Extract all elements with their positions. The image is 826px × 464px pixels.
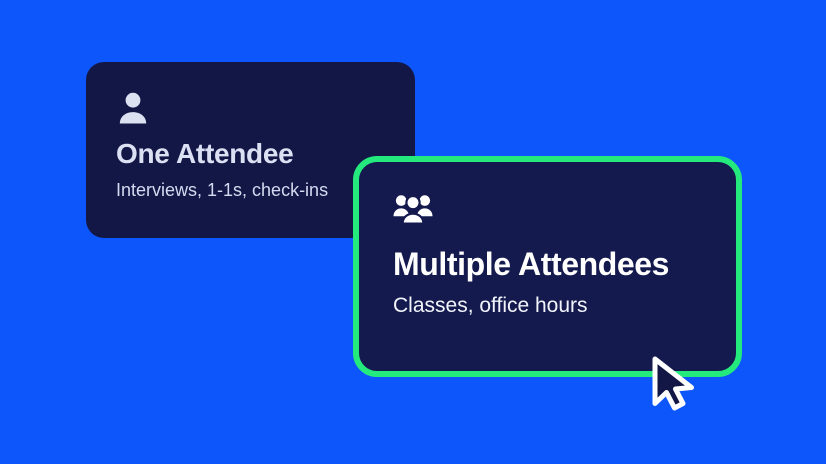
- option-card-multiple-attendees[interactable]: Multiple Attendees Classes, office hours: [353, 156, 742, 377]
- card-title: Multiple Attendees: [393, 246, 702, 283]
- card-title: One Attendee: [116, 138, 385, 170]
- attendee-type-selector: One Attendee Interviews, 1-1s, check-ins…: [0, 0, 826, 464]
- card-subtitle: Interviews, 1-1s, check-ins: [116, 180, 385, 201]
- single-person-icon: [116, 90, 150, 124]
- card-subtitle: Classes, office hours: [393, 294, 702, 318]
- group-people-icon: [393, 192, 433, 226]
